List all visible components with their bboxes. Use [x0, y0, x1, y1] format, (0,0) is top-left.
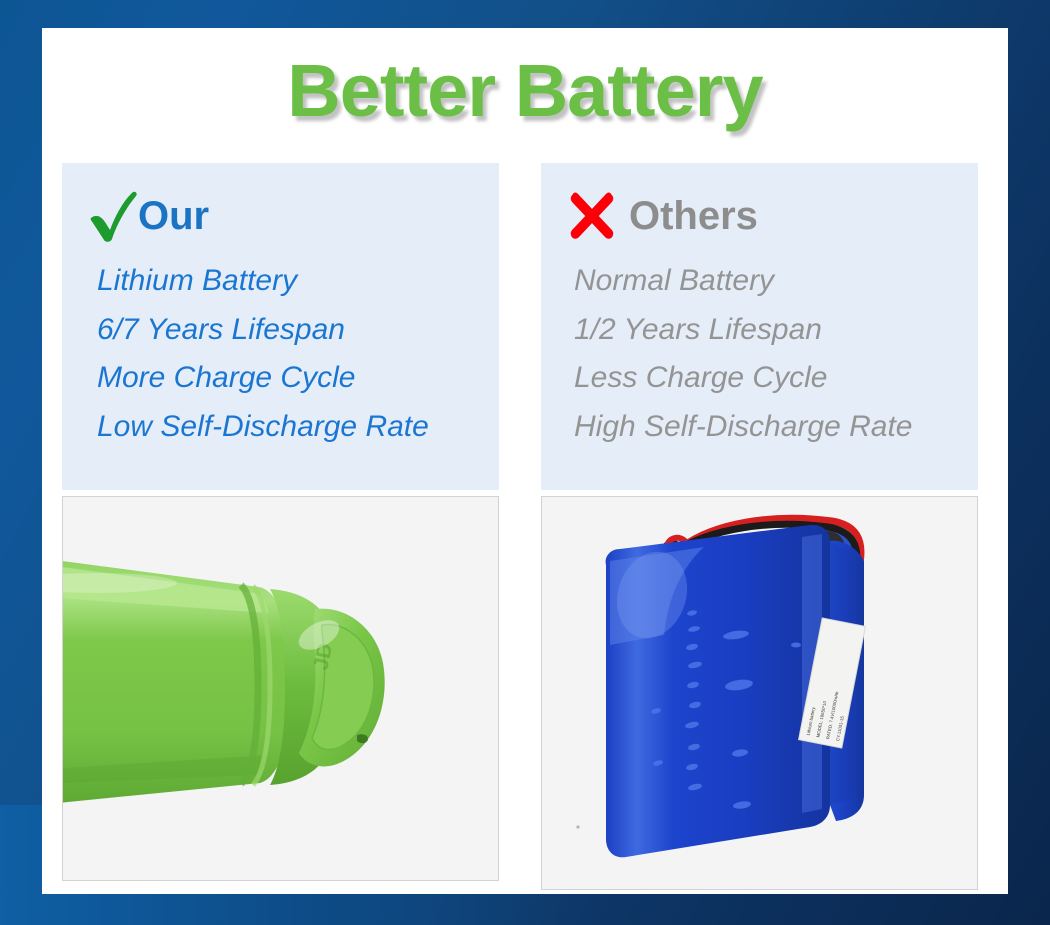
feature-list-our: Lithium Battery 6/7 Years Lifespan More … [86, 257, 475, 451]
page-title: Better Battery [42, 54, 1008, 128]
list-item: Low Self-Discharge Rate [97, 403, 475, 452]
blue-normal-battery-pack-photo: Lithium battery MODEL: 18650*10 RATED: 7… [541, 496, 978, 890]
white-card: Better Battery Our Lithium Battery 6/7 Y… [42, 28, 1008, 894]
list-item: 6/7 Years Lifespan [97, 306, 475, 355]
list-item: Less Charge Cycle [574, 354, 954, 403]
green-lithium-cell-photo: JD [62, 496, 499, 881]
red-cross-icon [565, 188, 619, 244]
spec-panel-our: Our Lithium Battery 6/7 Years Lifespan M… [62, 163, 499, 490]
column-others: Others Normal Battery 1/2 Years Lifespan… [541, 163, 978, 890]
list-item: High Self-Discharge Rate [574, 403, 954, 452]
column-our: Our Lithium Battery 6/7 Years Lifespan M… [62, 163, 499, 881]
list-item: 1/2 Years Lifespan [574, 306, 954, 355]
green-check-icon [86, 188, 140, 244]
spec-header-our: Our [86, 185, 475, 247]
list-item: Normal Battery [574, 257, 954, 306]
list-item: More Charge Cycle [97, 354, 475, 403]
list-item: Lithium Battery [97, 257, 475, 306]
feature-list-others: Normal Battery 1/2 Years Lifespan Less C… [565, 257, 954, 451]
spec-heading-others-label: Others [629, 196, 758, 236]
spec-heading-our-label: Our [138, 196, 209, 236]
spec-header-others: Others [565, 185, 954, 247]
spec-panel-others: Others Normal Battery 1/2 Years Lifespan… [541, 163, 978, 490]
poster-frame: Better Battery Our Lithium Battery 6/7 Y… [0, 0, 1050, 925]
